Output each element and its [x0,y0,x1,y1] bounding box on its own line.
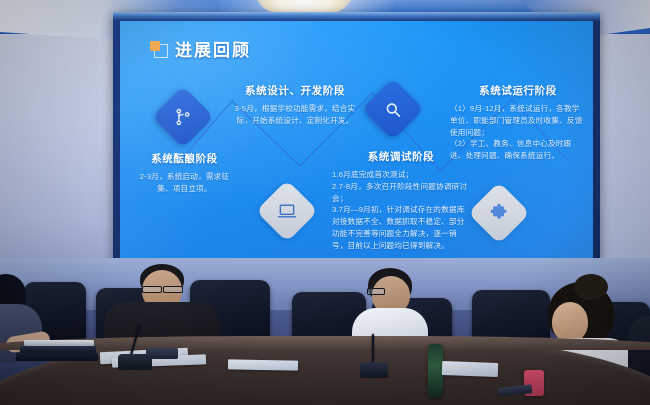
display-top-rim [113,12,600,21]
stage-1-body: 2-3月，系统启动，需求征集、项目立项。 [132,171,237,195]
puzzle-piece-icon [468,182,530,244]
water-bottle[interactable] [428,344,443,398]
right-wall [596,0,650,300]
stage-3-body: 1.6月底完成首次测试； 2.7-8月，多次召开阶段性问题协调研讨会； 3.7月… [332,169,470,251]
microphone-base[interactable] [360,362,388,378]
slide-title-text: 进展回顾 [175,36,251,61]
glasses-icon [163,286,183,293]
stage-1-heading: 系统酝酿阶段 [132,151,237,166]
stage-2-body: 3-5月，根据学校功能需求，结合实际，开始系统设计、定制化开发。 [230,103,360,127]
stage-4-body: （1）9月-12月，系统试运行，各教学单位、职能部门管理员及时收集、反馈使用问题… [450,103,586,162]
stage-1-block: 系统酝酿阶段 2-3月，系统启动，需求征集、项目立项。 [132,151,237,195]
wall-display[interactable]: 进展回顾 [120,21,593,289]
git-branch-icon [152,86,214,148]
hair-bun [574,274,608,300]
device[interactable] [146,348,178,359]
notebook-stack[interactable] [16,353,98,361]
stage-4-block: 系统试运行阶段 （1）9月-12月，系统试运行，各教学单位、职能部门管理员及时收… [450,83,586,162]
stage-2-block: 系统设计、开发阶段 3-5月，根据学校功能需求，结合实际，开始系统设计、定制化开… [230,83,360,127]
screenshot-root: 进展回顾 [0,0,650,405]
paper-sheet[interactable] [228,359,298,370]
glasses-icon [367,288,385,295]
notebook-stack[interactable] [20,346,96,353]
stage-2-heading: 系统设计、开发阶段 [230,83,360,98]
slide-title: 进展回顾 [150,36,251,61]
glasses-icon [142,286,162,293]
paper-sheet[interactable] [442,361,498,377]
presentation-slide: 进展回顾 [120,21,593,289]
head [552,302,588,342]
left-wall [0,0,118,292]
laptop-icon [256,180,318,242]
meeting-foreground [0,258,650,405]
orange-square-icon [150,41,167,57]
table-edge [0,336,650,350]
stage-4-heading: 系统试运行阶段 [450,83,586,98]
stage-3-block: 系统调试阶段 1.6月底完成首次测试； 2.7-8月，多次召开阶段性问题协调研讨… [332,149,470,251]
search-icon [362,78,424,140]
